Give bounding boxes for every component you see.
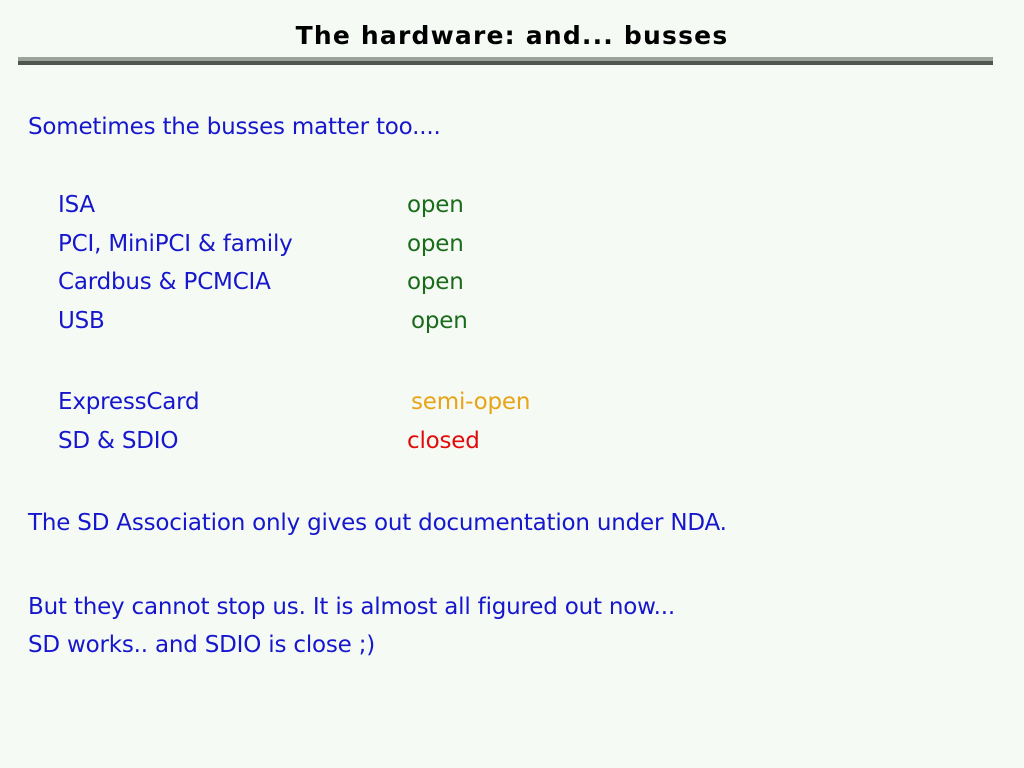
paragraph-sd-works: SD works.. and SDIO is close ;) bbox=[28, 632, 375, 658]
bus-name: USB bbox=[58, 308, 105, 334]
status-badge: open bbox=[407, 192, 464, 218]
bus-name: ExpressCard bbox=[58, 389, 199, 415]
lead-paragraph: Sometimes the busses matter too.... bbox=[28, 114, 441, 140]
title-divider-shadow bbox=[18, 61, 993, 65]
paragraph-stop-us: But they cannot stop us. It is almost al… bbox=[28, 594, 675, 620]
status-badge: closed bbox=[407, 428, 480, 454]
status-badge: open bbox=[407, 269, 464, 295]
paragraph-nda: The SD Association only gives out docume… bbox=[28, 510, 727, 536]
slide-canvas: The hardware: and... busses Sometimes th… bbox=[0, 0, 1024, 768]
bus-name: Cardbus & PCMCIA bbox=[58, 269, 271, 295]
bus-name: SD & SDIO bbox=[58, 428, 178, 454]
bus-name: PCI, MiniPCI & family bbox=[58, 231, 293, 257]
bus-name: ISA bbox=[58, 192, 95, 218]
status-badge: open bbox=[411, 308, 468, 334]
title-divider bbox=[18, 57, 993, 65]
status-badge: open bbox=[407, 231, 464, 257]
page-title: The hardware: and... busses bbox=[0, 22, 1024, 50]
status-badge: semi-open bbox=[411, 389, 530, 415]
